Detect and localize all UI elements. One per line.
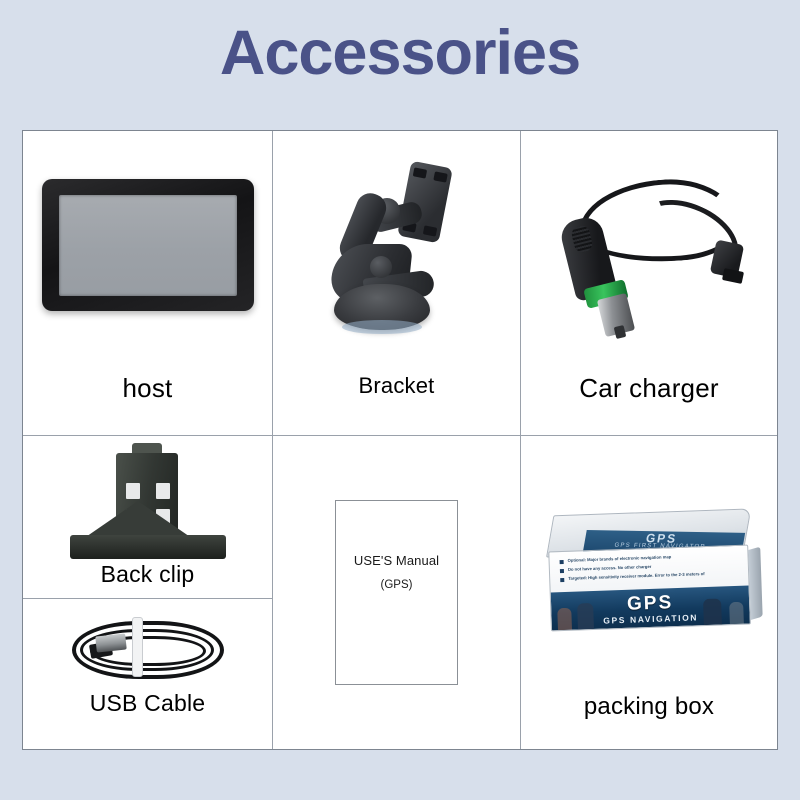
accessory-cell-packing-box: GPS GPS FIRST NAVIGATOR Optional: Major … (521, 436, 777, 749)
back-clip-foot (70, 535, 226, 559)
bracket-tab (412, 167, 426, 178)
photo-figure (703, 598, 722, 625)
accessory-label-bracket: Bracket (273, 375, 520, 435)
bracket-suction-lip (342, 320, 422, 334)
packing-box-logo: GPS (627, 592, 674, 616)
manual-subtitle: (GPS) (381, 579, 413, 591)
photo-figure (557, 607, 572, 629)
back-clip-image (23, 436, 272, 563)
suction-bracket-icon (312, 161, 482, 336)
page-title: Accessories (0, 22, 800, 85)
accessory-cell-car-charger: Car charger (521, 131, 777, 436)
back-clip-slot (156, 483, 170, 499)
table-column-3: Car charger GPS GPS FIRST NAVIGATOR (521, 131, 777, 749)
packing-box-icon: GPS GPS FIRST NAVIGATOR Optional: Major … (543, 508, 755, 633)
back-clip-icon (68, 447, 228, 559)
bullet-square-icon (560, 568, 564, 572)
bracket-image (273, 131, 520, 375)
accessory-cell-host: host (23, 131, 272, 436)
manual-image: USE'S Manual (GPS) (273, 436, 520, 749)
accessory-label-host: host (23, 375, 272, 435)
bracket-tab (433, 171, 447, 182)
users-manual-icon: USE'S Manual (GPS) (335, 500, 458, 685)
photo-figure (729, 601, 744, 623)
bracket-knob (370, 256, 392, 278)
accessory-table: host Back clip (22, 130, 778, 750)
manual-title: USE'S Manual (354, 553, 439, 568)
packing-box-front: Optional: Major brands of electronic nav… (548, 544, 751, 631)
packing-box-bullet-list: Optional: Major brands of electronic nav… (559, 551, 738, 584)
table-column-1: host Back clip (23, 131, 273, 749)
photo-figure (577, 602, 594, 629)
accessory-label-back-clip: Back clip (23, 563, 272, 598)
packing-box-photo-strip: GPS GPS NAVIGATION (551, 585, 750, 630)
accessory-cell-usb-cable: USB Cable (23, 599, 272, 749)
gps-screen (59, 195, 237, 296)
charger-mini-usb-tip (722, 268, 744, 284)
accessory-label-packing-box: packing box (521, 695, 777, 749)
accessory-label-usb-cable: USB Cable (23, 692, 272, 749)
accessory-cell-manual: USE'S Manual (GPS) (273, 436, 520, 749)
usb-cable-tie (132, 617, 143, 677)
usb-connector (95, 633, 127, 652)
bullet-square-icon (560, 577, 564, 581)
bullet-square-icon (560, 559, 564, 563)
usb-cable-image (23, 599, 272, 692)
packing-box-image: GPS GPS FIRST NAVIGATOR Optional: Major … (521, 436, 777, 695)
car-charger-image (521, 131, 777, 375)
bullet-text: Optional: Major brands of electronic nav… (567, 554, 671, 563)
accessory-cell-back-clip: Back clip (23, 436, 272, 599)
car-charger-icon (549, 174, 749, 324)
bullet-text: Do not have any access. No other charger (568, 563, 652, 571)
usb-cable-icon (68, 615, 228, 685)
accessory-label-car-charger: Car charger (521, 375, 777, 435)
table-column-2: Bracket USE'S Manual (GPS) (273, 131, 521, 749)
bracket-tab (422, 225, 436, 236)
gps-unit-icon (42, 179, 254, 311)
accessory-cell-bracket: Bracket (273, 131, 520, 436)
bracket-mount-plate (397, 160, 453, 243)
back-clip-slot (126, 483, 140, 499)
packing-box-logo-sub: GPS NAVIGATION (603, 612, 698, 625)
host-image (23, 131, 272, 375)
packing-box-side (748, 546, 762, 619)
